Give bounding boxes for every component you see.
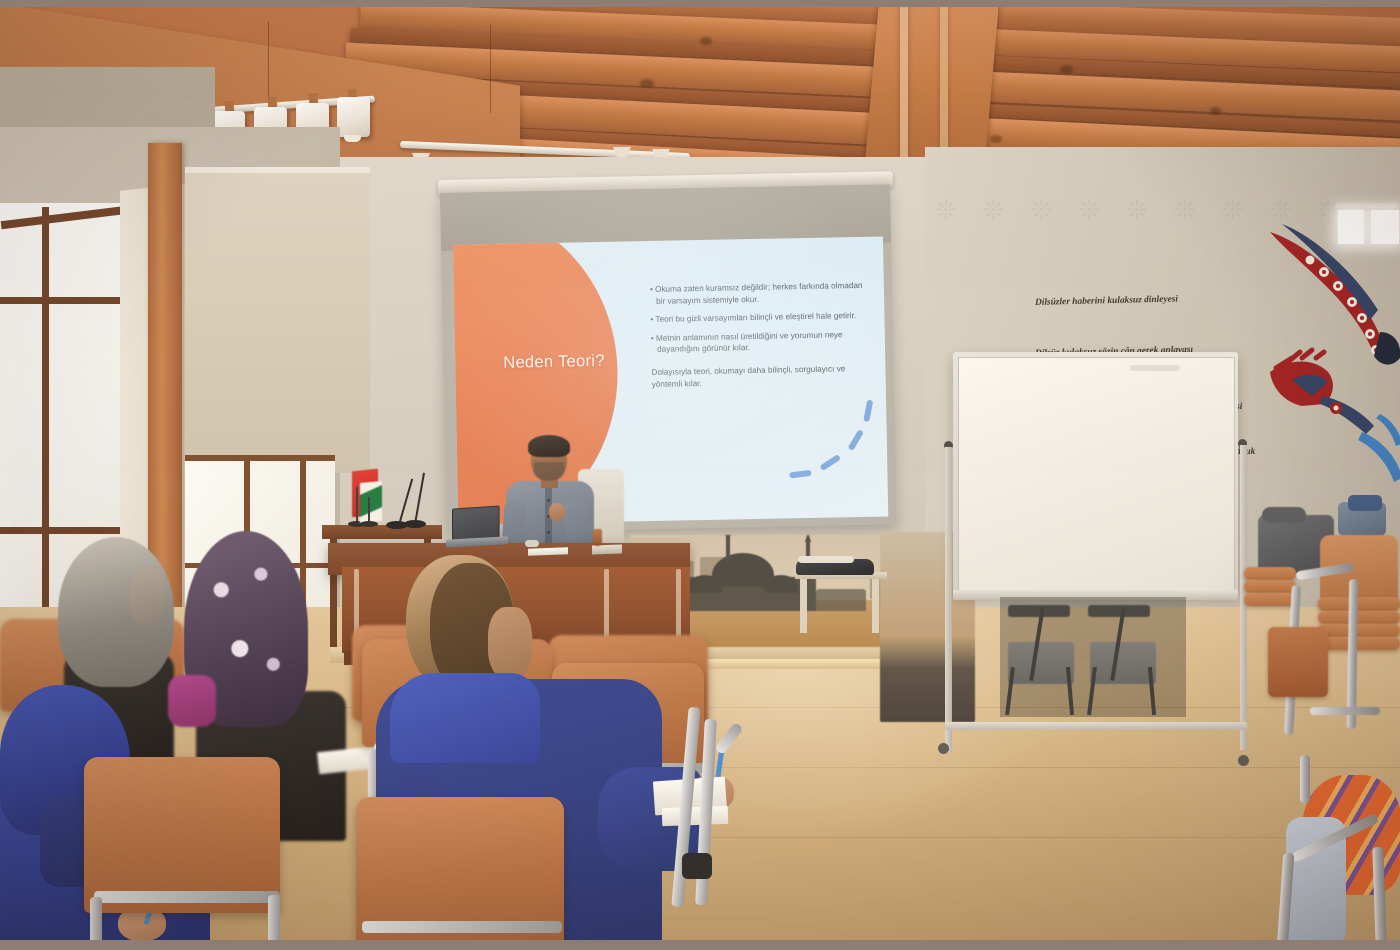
window-mullion [42,207,49,672]
side-stand-leg [800,579,807,633]
turkish-tea-glass [593,529,602,546]
attendee-garment [168,675,216,727]
microphone-base [404,520,426,528]
mural-semidome [688,575,722,593]
window-mullion [0,527,134,534]
stacked-chair-body [1268,627,1328,697]
papers-on-desk [528,547,568,555]
window-mullion [185,455,335,461]
under-board-shadow [1000,597,1186,717]
chair-chrome-rail [1310,707,1380,715]
slide-bullet: • Teori bu gizli varsayımları bilinçli v… [650,310,874,326]
stacked-chair-seat [1244,593,1296,606]
flag-pole [356,487,358,525]
audience-chair-leg [90,897,102,940]
stacked-chair-seat [1318,611,1400,624]
slide-arc-dash [848,429,864,451]
light-wire [268,21,269,105]
pendant-light [337,97,370,137]
seminar-room-photograph: ❊❊❊❊❊❊❊❊❊❊❊❊❊❊❊❊❊❊❊❊❊❊❊❊❊❊❊❊❊❊❊❊❊❊❊❊ Ned… [0,0,1400,950]
audience-chair-back [84,757,280,913]
wood-knot [990,135,1002,143]
light-object-on-stand [798,556,854,563]
mural-minaret [726,535,730,561]
light-wire [490,25,491,113]
letterbox-bar-bottom [0,940,1400,950]
shirt-button [547,499,550,502]
window-mullion [0,297,134,304]
whiteboard-caster [1238,755,1249,766]
high-window [1371,210,1399,244]
audience-chair-rail [94,891,280,903]
roller-blind [185,167,370,473]
slide-arc-dash [789,470,812,479]
mural-skyline [816,589,866,611]
letterbox-bar-top [0,0,1400,7]
headscarf-fold [130,567,164,627]
mobile-whiteboard[interactable] [953,352,1238,594]
slide-arc-dash [819,454,841,471]
presenter-beard [534,462,564,481]
presenter-hair [528,435,570,457]
mouse [525,540,539,547]
desk-trim [676,569,681,645]
green-desk-flag [360,481,382,523]
audience-chair-leg [268,895,280,940]
attendee-hood [390,673,540,763]
flag-base [360,521,378,527]
stacked-chair-seat [1244,567,1296,580]
attendee-neck [488,607,532,679]
whiteboard-caster [938,743,949,754]
shirt-button [547,531,550,534]
side-stand-leg [872,579,879,633]
whiteboard-leg [945,447,952,752]
slide-body: • Okuma zaten kuramsız değildir; herkes … [650,280,876,397]
projection-screen: Neden Teori? • Okuma zaten kuramsız deği… [440,184,896,533]
bag-handle [1262,507,1306,523]
whiteboard-surface[interactable] [958,357,1235,591]
presenter-hand [549,503,565,521]
notepad-page [662,806,729,826]
stacked-chair-seat [1244,580,1296,593]
high-window-frame [1336,203,1398,208]
wood-knot [1210,107,1221,115]
high-window [1338,210,1364,244]
mural-semidome [764,575,798,593]
whiteboard-smudge [1130,365,1180,371]
chair-chrome-frame [1300,755,1310,803]
audience-chair-back [356,797,564,940]
cloth-item-accent [1348,495,1382,511]
slide-heading: Neden Teori? [503,351,653,373]
wood-knot [1060,65,1073,74]
slide-bullet: • Okuma zaten kuramsız değildir; herkes … [650,280,874,307]
audience-chair-rail [362,921,562,933]
slide-arc-dash [863,399,873,422]
stacked-chair-seat [1318,624,1400,637]
slide-bullet: • Metnin anlamının nasıl üretildiğini ve… [651,328,875,355]
scene: ❊❊❊❊❊❊❊❊❊❊❊❊❊❊❊❊❊❊❊❊❊❊❊❊❊❊❊❊❊❊❊❊❊❊❊❊ Ned… [0,7,1400,940]
wood-knot [640,79,654,88]
chair-joint [682,853,712,879]
wood-knot [700,37,712,45]
whiteboard-base-rail [945,722,1247,730]
stacked-chair-seat [1318,637,1400,650]
stacked-chair-seat [1318,597,1400,611]
slide-closing-text: Dolayısıyla teori, okumayı daha bilinçli… [651,363,875,390]
